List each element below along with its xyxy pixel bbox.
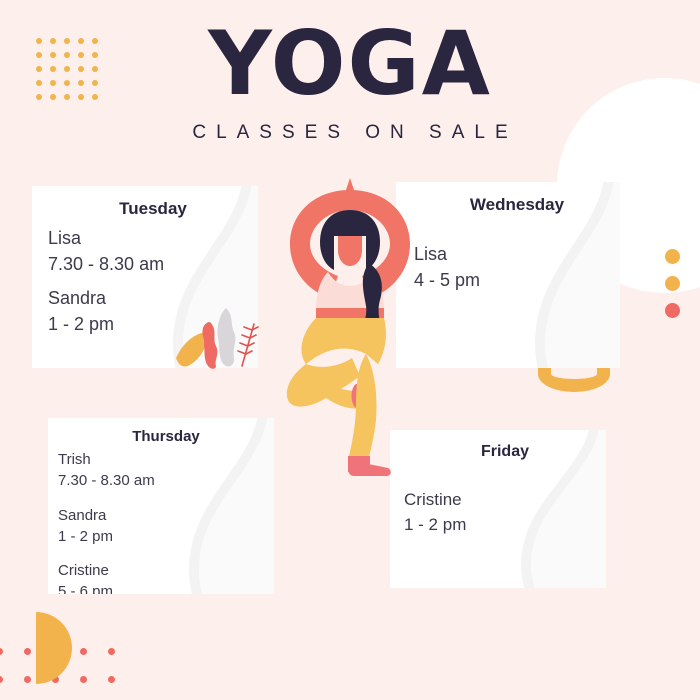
yoga-class-schedule-poster: YOGA CLASSES ON SALE Tuesday Lisa 7.30 -… bbox=[0, 0, 700, 700]
class-time: 1 - 2 pm bbox=[404, 513, 606, 538]
yellow-half-circle-decoration bbox=[36, 612, 72, 684]
page-title: YOGA bbox=[0, 22, 700, 106]
class-slot: Lisa 7.30 - 8.30 am bbox=[48, 225, 258, 277]
instructor-name: Lisa bbox=[48, 225, 258, 251]
card-content: Thursday Trish 7.30 - 8.30 am Sandra 1 -… bbox=[48, 418, 274, 594]
instructor-name: Cristine bbox=[58, 560, 274, 581]
poster-header: YOGA CLASSES ON SALE bbox=[0, 22, 700, 144]
class-time: 7.30 - 8.30 am bbox=[58, 470, 274, 491]
decorative-dot bbox=[52, 676, 59, 683]
yoga-figure-illustration bbox=[270, 168, 430, 488]
class-time: 1 - 2 pm bbox=[58, 526, 274, 547]
decorative-dot bbox=[24, 676, 31, 683]
card-day-label: Friday bbox=[404, 430, 606, 461]
card-day-label: Tuesday bbox=[48, 186, 258, 219]
coral-dot-grid-decoration bbox=[0, 648, 126, 700]
decorative-dot bbox=[108, 648, 115, 655]
decorative-dot bbox=[0, 648, 3, 655]
class-slot: Sandra 1 - 2 pm bbox=[58, 505, 274, 548]
card-day-label: Thursday bbox=[58, 418, 274, 445]
class-time: 7.30 - 8.30 am bbox=[48, 251, 258, 277]
side-dot-yellow-1 bbox=[665, 249, 680, 264]
instructor-name: Trish bbox=[58, 449, 274, 470]
class-time: 4 - 5 pm bbox=[414, 267, 620, 293]
botanical-leaves-icon bbox=[172, 296, 268, 376]
class-time: 5 - 6 pm bbox=[58, 581, 274, 594]
decorative-dot bbox=[52, 648, 59, 655]
side-dot-coral bbox=[665, 303, 680, 318]
schedule-card-thursday[interactable]: Thursday Trish 7.30 - 8.30 am Sandra 1 -… bbox=[48, 418, 274, 594]
card-day-label: Wednesday bbox=[414, 182, 620, 215]
decorative-dot bbox=[24, 648, 31, 655]
instructor-name: Sandra bbox=[58, 505, 274, 526]
class-slot: Cristine 5 - 6 pm bbox=[58, 560, 274, 594]
decorative-dot bbox=[80, 648, 87, 655]
class-slot: Trish 7.30 - 8.30 am bbox=[58, 449, 274, 492]
decorative-dot bbox=[0, 676, 3, 683]
class-slot: Cristine 1 - 2 pm bbox=[404, 488, 606, 537]
side-dot-yellow-2 bbox=[665, 276, 680, 291]
instructor-name: Cristine bbox=[404, 488, 606, 513]
decorative-dot bbox=[108, 676, 115, 683]
page-subtitle: CLASSES ON SALE bbox=[0, 122, 700, 144]
class-slot: Lisa 4 - 5 pm bbox=[414, 241, 620, 293]
instructor-name: Lisa bbox=[414, 241, 620, 267]
decorative-dot bbox=[80, 676, 87, 683]
